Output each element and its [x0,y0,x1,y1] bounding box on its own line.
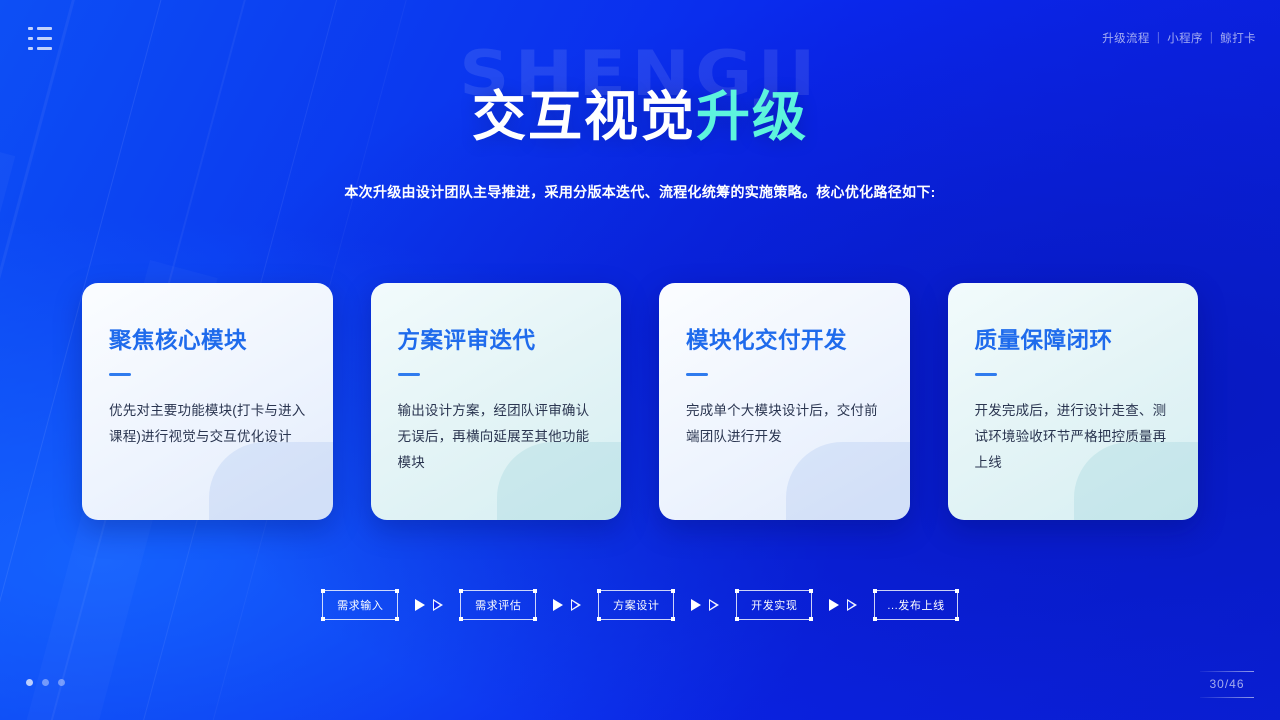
play-solid-icon [691,599,701,611]
page-indicator: 30/46 [1200,671,1254,698]
play-solid-icon [829,599,839,611]
card-divider [686,373,708,376]
menu-icon-row [28,36,54,40]
card-list: 聚焦核心模块 优先对主要功能模块(打卡与进入课程)进行视觉与交互优化设计 方案评… [82,283,1198,520]
page-indicator-number: 30/46 [1200,672,1254,697]
pagination-dots [26,679,65,686]
info-card[interactable]: 模块化交付开发 完成单个大模块设计后，交付前端团队进行开发 [659,283,910,520]
card-divider [109,373,131,376]
selection-handle [321,589,325,593]
selection-handle [671,617,675,621]
selection-handle [955,617,959,621]
menu-icon-bar [37,37,52,40]
selection-handle [459,617,463,621]
quote-mark-decoration [209,442,333,520]
selection-handle [873,617,877,621]
process-flow: 需求输入 需求评估 方案设计 [0,590,1280,620]
page-title-highlight: 升级 [696,87,808,147]
page-title: 交互视觉升级 [0,88,1280,146]
background-streak [0,120,15,720]
menu-icon-bar [37,27,52,30]
quote-mark-decoration [786,442,910,520]
selection-handle [735,589,739,593]
menu-icon-dot [28,27,33,30]
card-body: 优先对主要功能模块(打卡与进入课程)进行视觉与交互优化设计 [109,398,309,451]
menu-icon-dot [28,47,33,50]
menu-icon-bar [37,47,52,50]
nav-separator: | [1210,32,1213,44]
play-outline-icon [433,599,443,611]
card-body: 开发完成后，进行设计走查、测试环境验收环节严格把控质量再上线 [975,398,1175,477]
page-subtitle: 本次升级由设计团队主导推进，采用分版本迭代、流程化统筹的实施策略。核心优化路径如… [0,182,1280,202]
card-divider [975,373,997,376]
selection-handle [533,617,537,621]
selection-handle [395,617,399,621]
page-indicator-rule [1200,697,1254,698]
flow-arrow [536,599,598,611]
play-solid-icon [415,599,425,611]
flow-arrow [398,599,460,611]
selection-handle [533,589,537,593]
card-divider [398,373,420,376]
flow-node-label: 需求评估 [475,600,521,612]
selection-handle [873,589,877,593]
selection-handle [809,617,813,621]
card-title: 聚焦核心模块 [109,330,309,353]
pagination-dot[interactable] [58,679,65,686]
card-title: 方案评审迭代 [398,330,598,353]
flow-node-solution-design[interactable]: 方案设计 [598,590,674,620]
menu-icon-row [28,26,54,30]
info-card[interactable]: 聚焦核心模块 优先对主要功能模块(打卡与进入课程)进行视觉与交互优化设计 [82,283,333,520]
selection-handle [597,589,601,593]
card-body: 输出设计方案，经团队评审确认无误后，再横向延展至其他功能模块 [398,398,598,477]
top-nav: 升级流程 | 小程序 | 鲸打卡 [1102,30,1256,46]
pagination-dot[interactable] [42,679,49,686]
card-title: 质量保障闭环 [975,330,1175,353]
selection-handle [671,589,675,593]
selection-handle [955,589,959,593]
flow-arrow [812,599,874,611]
selection-handle [321,617,325,621]
play-outline-icon [571,599,581,611]
play-outline-icon [709,599,719,611]
nav-item-upgrade-flow[interactable]: 升级流程 [1102,30,1150,46]
info-card[interactable]: 方案评审迭代 输出设计方案，经团队评审确认无误后，再横向延展至其他功能模块 [371,283,622,520]
selection-handle [597,617,601,621]
list-menu-icon[interactable] [28,26,54,50]
flow-node-label: ...发布上线 [887,600,944,612]
menu-icon-dot [28,37,33,40]
selection-handle [809,589,813,593]
flow-node-label: 开发实现 [751,600,797,612]
selection-handle [395,589,399,593]
nav-separator: | [1157,32,1160,44]
flow-node-label: 方案设计 [613,600,659,612]
play-outline-icon [847,599,857,611]
flow-node-label: 需求输入 [337,600,383,612]
flow-node-requirement-review[interactable]: 需求评估 [460,590,536,620]
nav-item-jingdaka[interactable]: 鲸打卡 [1220,30,1256,46]
menu-icon-row [28,46,54,50]
flow-node-requirement-input[interactable]: 需求输入 [322,590,398,620]
card-title: 模块化交付开发 [686,330,886,353]
pagination-dot[interactable] [26,679,33,686]
flow-node-release[interactable]: ...发布上线 [874,590,957,620]
nav-item-miniprogram[interactable]: 小程序 [1167,30,1203,46]
play-solid-icon [553,599,563,611]
slide-canvas: 升级流程 | 小程序 | 鲸打卡 SHENGJI 交互视觉升级 本次升级由设计团… [0,0,1280,720]
page-title-main: 交互视觉 [472,87,696,147]
selection-handle [459,589,463,593]
info-card[interactable]: 质量保障闭环 开发完成后，进行设计走查、测试环境验收环节严格把控质量再上线 [948,283,1199,520]
flow-arrow [674,599,736,611]
card-body: 完成单个大模块设计后，交付前端团队进行开发 [686,398,886,451]
selection-handle [735,617,739,621]
flow-node-development[interactable]: 开发实现 [736,590,812,620]
